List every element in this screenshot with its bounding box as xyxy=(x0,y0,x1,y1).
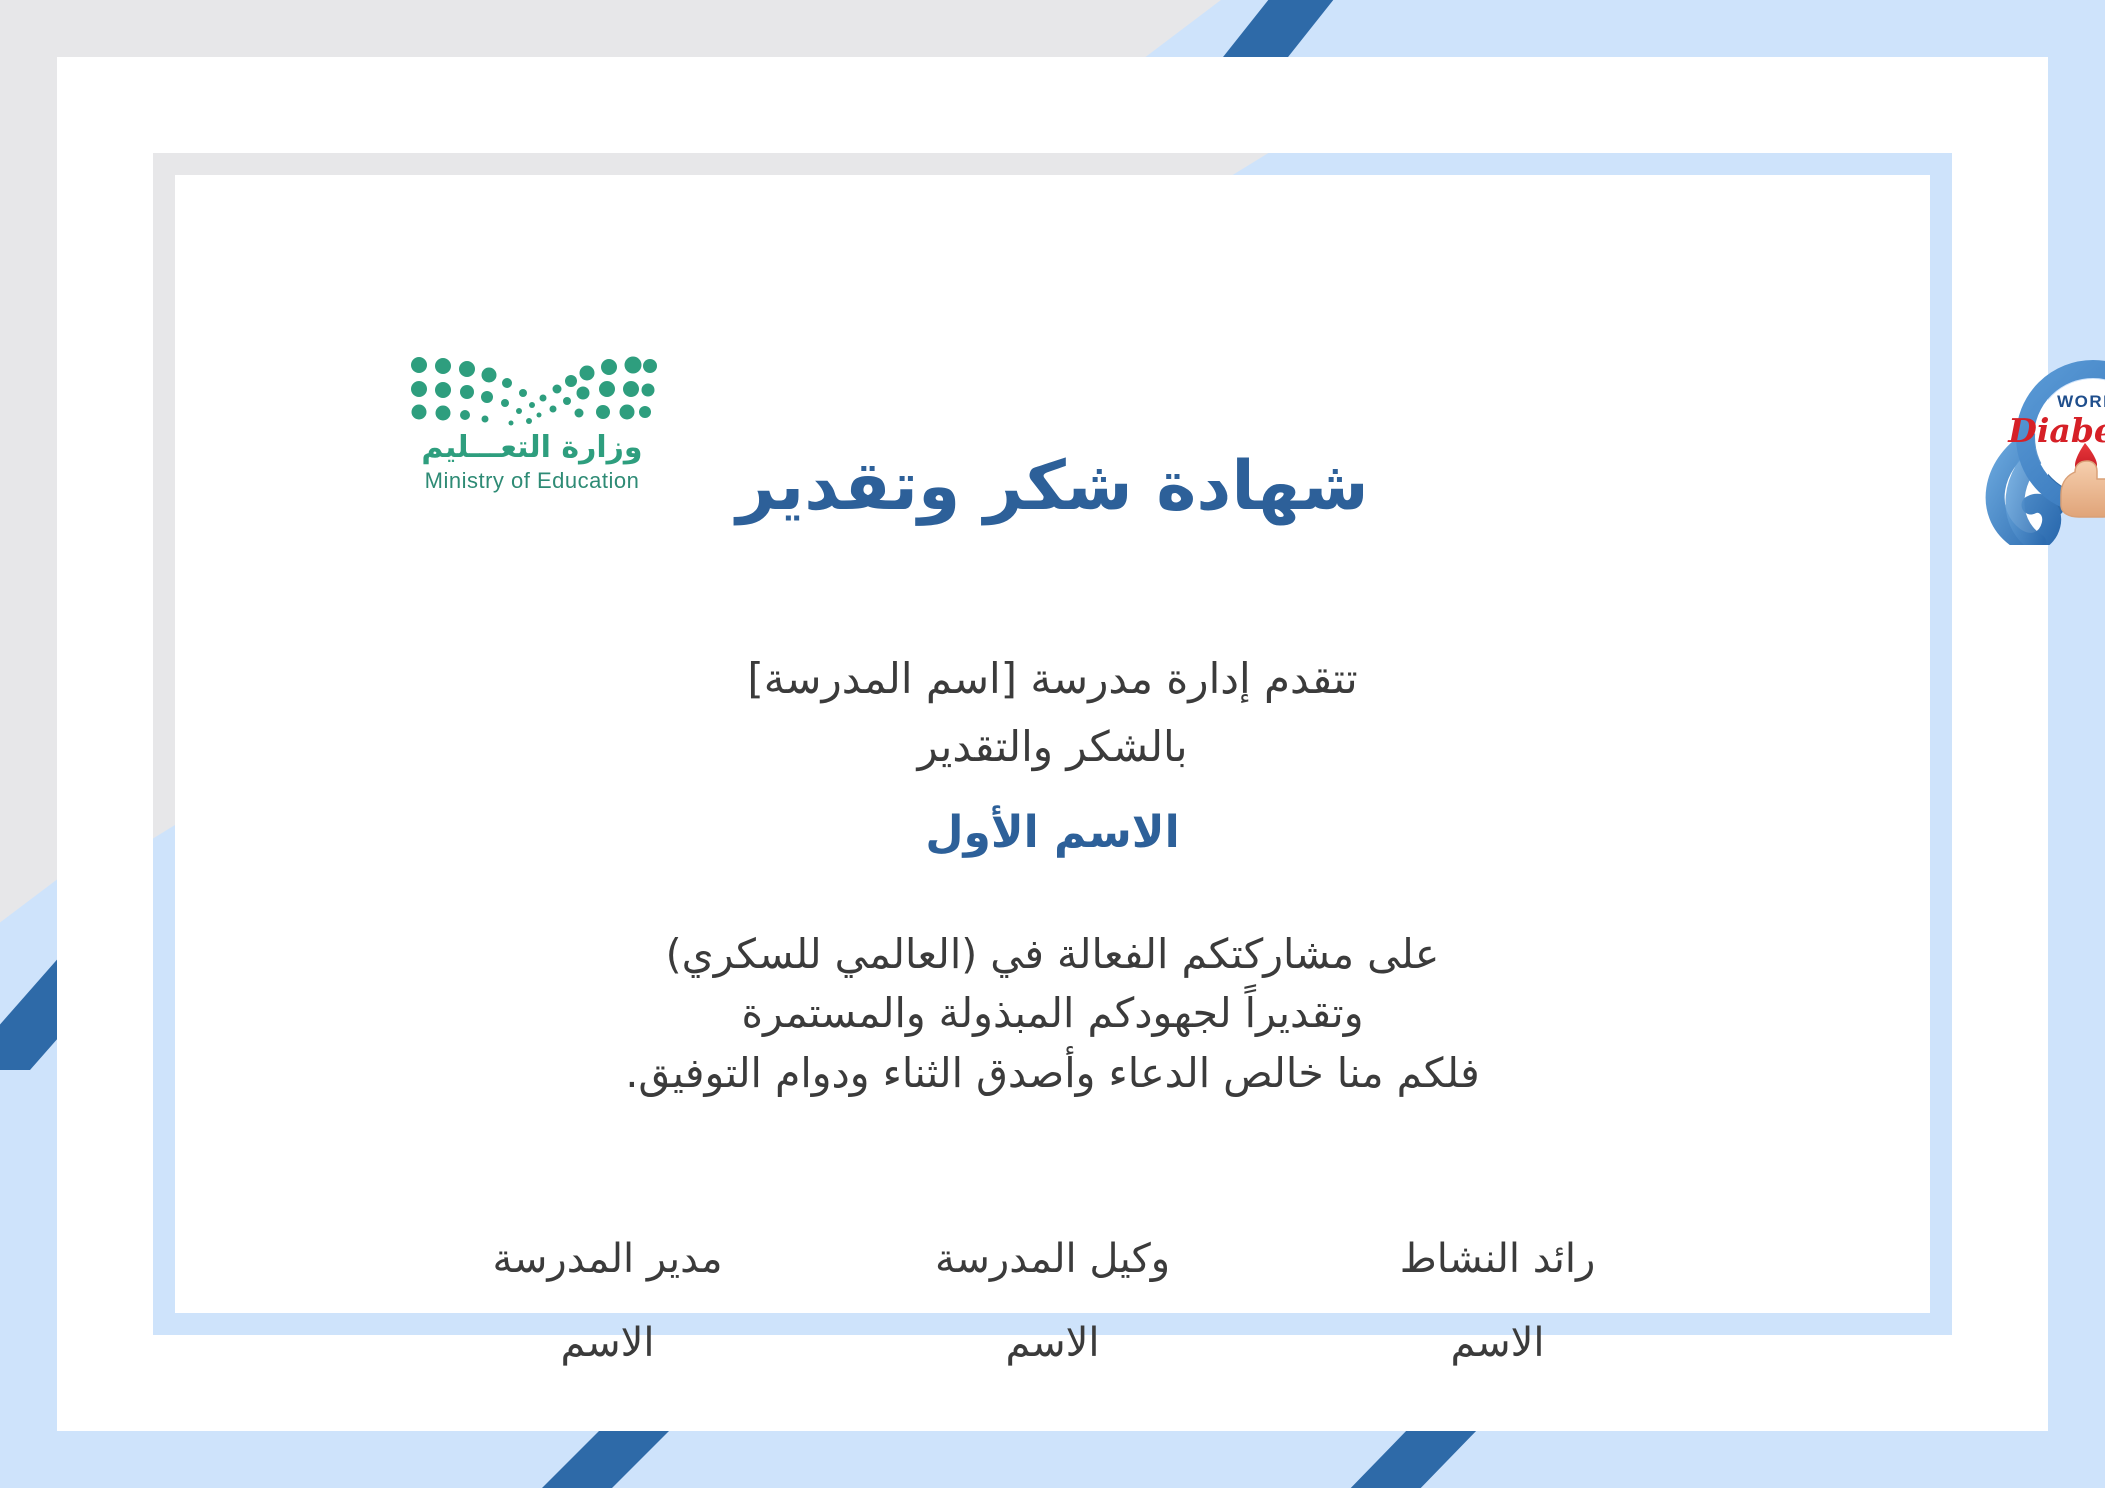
signature-role: رائد النشاط xyxy=(1275,1235,1720,1283)
world-diabetes-day-logo: WORLD Diabetes DAY xyxy=(1981,345,2105,545)
body-line-1: تتقدم إدارة مدرسة [اسم المدرسة] xyxy=(175,645,1930,713)
certificate-page: WORLD Diabetes DAY xyxy=(0,0,2105,1488)
signature-school-deputy: وكيل المدرسة الاسم xyxy=(830,1235,1275,1367)
body-line-2: بالشكر والتقدير xyxy=(175,713,1930,781)
body-intro-block: تتقدم إدارة مدرسة [اسم المدرسة] بالشكر و… xyxy=(175,645,1930,858)
moe-dot-pattern-icon xyxy=(407,353,657,431)
svg-text:Diabetes: Diabetes xyxy=(2007,411,2105,450)
signature-role: وكيل المدرسة xyxy=(830,1235,1275,1283)
body-appreciation-block: على مشاركتكم الفعالة في (العالمي للسكري)… xyxy=(175,925,1930,1103)
signature-school-principal: مدير المدرسة الاسم xyxy=(385,1235,830,1367)
signature-role: مدير المدرسة xyxy=(385,1235,830,1283)
body-line-4: وتقديراً لجهودكم المبذولة والمستمرة xyxy=(175,984,1930,1043)
signature-name: الاسم xyxy=(1275,1319,1720,1367)
signature-row: رائد النشاط الاسم وكيل المدرسة الاسم مدي… xyxy=(385,1235,1720,1367)
signature-name: الاسم xyxy=(385,1319,830,1367)
signature-name: الاسم xyxy=(830,1319,1275,1367)
certificate-title: شهادة شكر وتقدير xyxy=(175,447,1930,526)
recipient-name: الاسم الأول xyxy=(175,807,1930,858)
frame-outer-white: WORLD Diabetes DAY xyxy=(57,57,2048,1431)
signature-activity-leader: رائد النشاط الاسم xyxy=(1275,1235,1720,1367)
certificate-card: WORLD Diabetes DAY xyxy=(175,175,1930,1313)
svg-text:WORLD: WORLD xyxy=(2057,392,2105,411)
certificate-content: WORLD Diabetes DAY xyxy=(175,175,1930,1313)
body-line-3: على مشاركتكم الفعالة في (العالمي للسكري) xyxy=(175,925,1930,984)
body-line-5: فلكم منا خالص الدعاء وأصدق الثناء ودوام … xyxy=(175,1044,1930,1103)
